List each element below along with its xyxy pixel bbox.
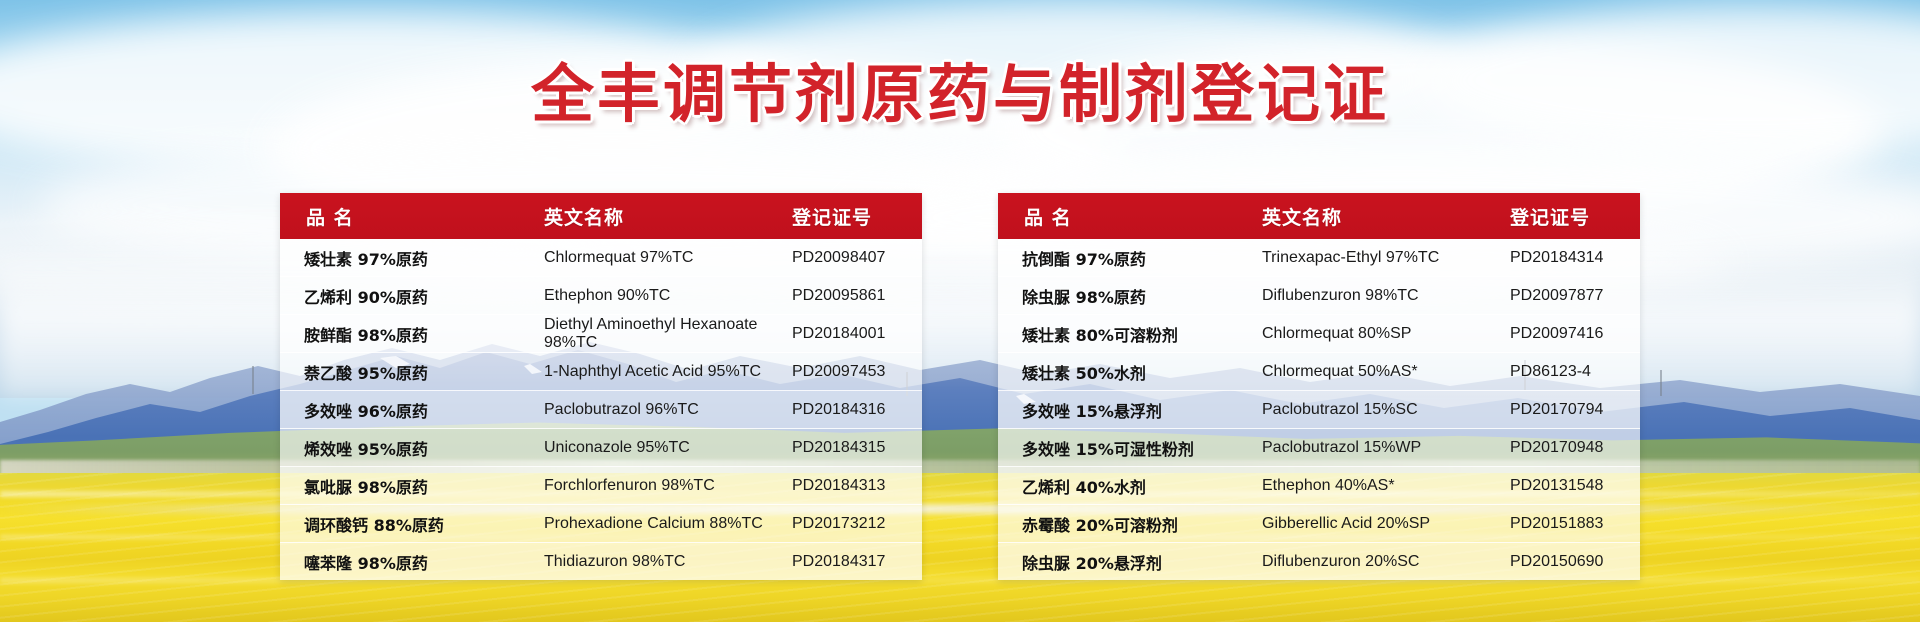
cell-product-name: 调环酸钙 88%原药 [280,512,540,536]
cell-english-name: Diflubenzuron 98%TC [1258,287,1508,305]
column-header-english-name: 英文名称 [540,203,790,230]
cell-product-name: 萘乙酸 95%原药 [280,360,540,384]
cell-product-name: 乙烯利 90%原药 [280,284,540,308]
cell-english-name: Ethephon 40%AS* [1258,477,1508,495]
cell-english-name: Paclobutrazol 15%SC [1258,401,1508,419]
cell-product-name: 噻苯隆 98%原药 [280,550,540,574]
cell-registration-number: PD20097877 [1508,287,1640,305]
column-header-registration-number: 登记证号 [1508,203,1640,230]
cell-product-name: 矮壮素 97%原药 [280,246,540,270]
cell-registration-number: PD20184001 [790,325,922,343]
cell-product-name: 多效唑 15%悬浮剂 [998,398,1258,422]
registration-tables: 品 名 英文名称 登记证号 矮壮素 97%原药 Chlormequat 97%T… [0,193,1920,580]
cell-registration-number: PD20170794 [1508,401,1640,419]
column-header-product-name: 品 名 [998,203,1258,230]
cell-product-name: 胺鲜酯 98%原药 [280,322,540,346]
cell-english-name: Ethephon 90%TC [540,287,790,305]
cell-product-name: 除虫脲 98%原药 [998,284,1258,308]
cell-english-name: Gibberellic Acid 20%SP [1258,515,1508,533]
page-title-container: 全丰调节剂原药与制剂登记证 [0,58,1920,132]
cell-registration-number: PD20095861 [790,287,922,305]
cell-registration-number: PD20184313 [790,477,922,495]
table-row: 噻苯隆 98%原药 Thidiazuron 98%TC PD20184317 [280,543,922,580]
cell-product-name: 多效唑 15%可湿性粉剂 [998,436,1258,460]
table-header-row: 品 名 英文名称 登记证号 [280,193,922,239]
page-title: 全丰调节剂原药与制剂登记证 [531,58,1389,132]
cell-english-name: Diflubenzuron 20%SC [1258,553,1508,571]
table-row: 赤霉酸 20%可溶粉剂 Gibberellic Acid 20%SP PD201… [998,505,1640,543]
table-row: 胺鲜酯 98%原药 Diethyl Aminoethyl Hexanoate 9… [280,315,922,353]
cell-english-name: Chlormequat 97%TC [540,249,790,267]
cell-registration-number: PD20184314 [1508,249,1640,267]
table-row: 多效唑 15%可湿性粉剂 Paclobutrazol 15%WP PD20170… [998,429,1640,467]
cell-registration-number: PD20097453 [790,363,922,381]
table-row: 乙烯利 90%原药 Ethephon 90%TC PD20095861 [280,277,922,315]
cell-registration-number: PD20170948 [1508,439,1640,457]
formulations-table: 品 名 英文名称 登记证号 抗倒酯 97%原药 Trinexapac-Ethyl… [998,193,1640,580]
cell-registration-number: PD20151883 [1508,515,1640,533]
cell-english-name: Prohexadione Calcium 88%TC [540,515,790,533]
cell-product-name: 氯吡脲 98%原药 [280,474,540,498]
cell-product-name: 抗倒酯 97%原药 [998,246,1258,270]
column-header-english-name: 英文名称 [1258,203,1508,230]
cell-registration-number: PD86123-4 [1508,363,1640,381]
table-header-row: 品 名 英文名称 登记证号 [998,193,1640,239]
cell-product-name: 多效唑 96%原药 [280,398,540,422]
cell-registration-number: PD20184317 [790,553,922,571]
cell-english-name: 1-Naphthyl Acetic Acid 95%TC [540,363,790,381]
table-row: 烯效唑 95%原药 Uniconazole 95%TC PD20184315 [280,429,922,467]
table-row: 矮壮素 80%可溶粉剂 Chlormequat 80%SP PD20097416 [998,315,1640,353]
table-body: 抗倒酯 97%原药 Trinexapac-Ethyl 97%TC PD20184… [998,239,1640,580]
cell-english-name: Diethyl Aminoethyl Hexanoate 98%TC [540,316,790,352]
table-row: 矮壮素 97%原药 Chlormequat 97%TC PD20098407 [280,239,922,277]
cell-english-name: Thidiazuron 98%TC [540,553,790,571]
cell-english-name: Trinexapac-Ethyl 97%TC [1258,249,1508,267]
cell-product-name: 乙烯利 40%水剂 [998,474,1258,498]
cell-registration-number: PD20098407 [790,249,922,267]
table-row: 多效唑 15%悬浮剂 Paclobutrazol 15%SC PD2017079… [998,391,1640,429]
table-row: 乙烯利 40%水剂 Ethephon 40%AS* PD20131548 [998,467,1640,505]
cell-english-name: Uniconazole 95%TC [540,439,790,457]
cell-english-name: Chlormequat 50%AS* [1258,363,1508,381]
cell-registration-number: PD20173212 [790,515,922,533]
table-row: 除虫脲 20%悬浮剂 Diflubenzuron 20%SC PD2015069… [998,543,1640,580]
column-header-product-name: 品 名 [280,203,540,230]
table-row: 抗倒酯 97%原药 Trinexapac-Ethyl 97%TC PD20184… [998,239,1640,277]
cell-product-name: 烯效唑 95%原药 [280,436,540,460]
cell-english-name: Paclobutrazol 96%TC [540,401,790,419]
table-row: 氯吡脲 98%原药 Forchlorfenuron 98%TC PD201843… [280,467,922,505]
table-body: 矮壮素 97%原药 Chlormequat 97%TC PD20098407 乙… [280,239,922,580]
table-row: 调环酸钙 88%原药 Prohexadione Calcium 88%TC PD… [280,505,922,543]
cell-english-name: Forchlorfenuron 98%TC [540,477,790,495]
table-row: 矮壮素 50%水剂 Chlormequat 50%AS* PD86123-4 [998,353,1640,391]
cell-product-name: 除虫脲 20%悬浮剂 [998,550,1258,574]
table-row: 除虫脲 98%原药 Diflubenzuron 98%TC PD20097877 [998,277,1640,315]
cell-registration-number: PD20131548 [1508,477,1640,495]
column-header-registration-number: 登记证号 [790,203,922,230]
cell-registration-number: PD20150690 [1508,553,1640,571]
cell-english-name: Chlormequat 80%SP [1258,325,1508,343]
cell-registration-number: PD20184316 [790,401,922,419]
table-row: 萘乙酸 95%原药 1-Naphthyl Acetic Acid 95%TC P… [280,353,922,391]
cell-registration-number: PD20097416 [1508,325,1640,343]
cell-product-name: 赤霉酸 20%可溶粉剂 [998,512,1258,536]
cell-product-name: 矮壮素 50%水剂 [998,360,1258,384]
table-row: 多效唑 96%原药 Paclobutrazol 96%TC PD20184316 [280,391,922,429]
cell-product-name: 矮壮素 80%可溶粉剂 [998,322,1258,346]
cell-registration-number: PD20184315 [790,439,922,457]
cell-english-name: Paclobutrazol 15%WP [1258,439,1508,457]
technical-materials-table: 品 名 英文名称 登记证号 矮壮素 97%原药 Chlormequat 97%T… [280,193,922,580]
